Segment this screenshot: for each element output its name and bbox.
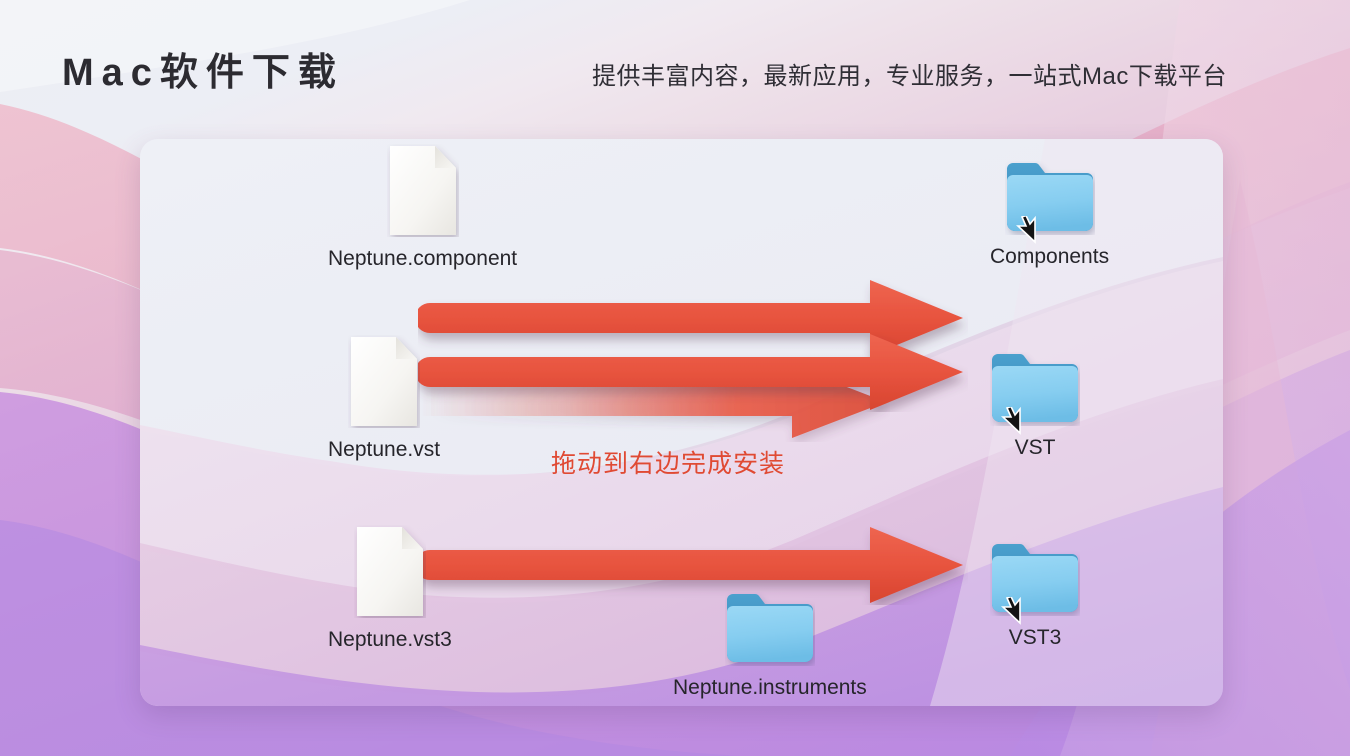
drag-instruction-text: 拖动到右边完成安装 (551, 444, 785, 480)
folder-icon (725, 592, 815, 666)
folder-icon (1005, 161, 1095, 235)
source-item-2[interactable]: Neptune.vst3 (328, 525, 452, 652)
destination-item-0[interactable]: Components (990, 161, 1109, 269)
destination-label-0: Components (990, 245, 1109, 269)
document-icon (354, 525, 426, 618)
source-label-0: Neptune.component (328, 247, 517, 271)
source-label-2: Neptune.vst3 (328, 628, 452, 652)
page-title: Mac软件下载 (62, 41, 344, 96)
extra-label-0: Neptune.instruments (673, 676, 867, 700)
drag-arrow-vst (418, 332, 968, 412)
destination-item-1[interactable]: VST (990, 352, 1080, 460)
source-label-1: Neptune.vst (328, 438, 440, 462)
folder-icon (990, 352, 1080, 426)
destination-label-2: VST3 (1009, 626, 1062, 650)
folder-icon (990, 542, 1080, 616)
extra-item-0[interactable]: Neptune.instruments (673, 592, 867, 700)
installer-window: Neptune.component (140, 139, 1223, 706)
document-icon (387, 144, 459, 237)
document-icon (348, 335, 420, 428)
screenshot-root: Mac软件下载 提供丰富内容，最新应用，专业服务，一站式Mac下载平台 (0, 0, 1350, 756)
destination-label-1: VST (1015, 436, 1056, 460)
source-item-1[interactable]: Neptune.vst (328, 335, 440, 462)
page-subtitle: 提供丰富内容，最新应用，专业服务，一站式Mac下载平台 (592, 56, 1227, 91)
source-item-0[interactable]: Neptune.component (328, 144, 517, 271)
destination-item-2[interactable]: VST3 (990, 542, 1080, 650)
